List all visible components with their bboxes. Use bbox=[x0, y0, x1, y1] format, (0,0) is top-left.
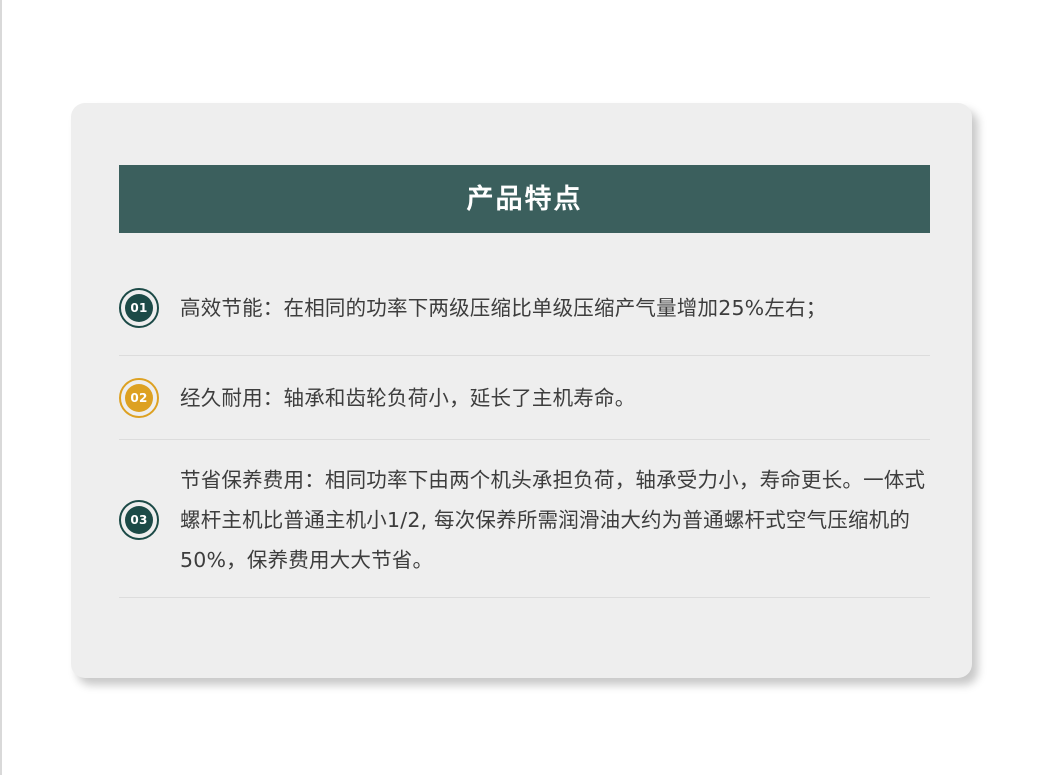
list-item: 02 经久耐用：轴承和齿轮负荷小，延长了主机寿命。 bbox=[119, 356, 930, 440]
product-features-card: 产品特点 01 高效节能：在相同的功率下两级压缩比单级压缩产气量增加25%左右；… bbox=[71, 103, 972, 678]
badge-disc: 01 bbox=[125, 294, 153, 322]
badge-number-label: 01 bbox=[130, 302, 147, 314]
feature-description: 节省保养费用：相同功率下由两个机头承担负荷，轴承受力小，寿命更长。一体式螺杆主机… bbox=[180, 460, 930, 580]
badge-disc: 03 bbox=[125, 506, 153, 534]
page-left-edge-rule bbox=[0, 0, 2, 775]
feature-list: 01 高效节能：在相同的功率下两级压缩比单级压缩产气量增加25%左右； 02 经… bbox=[119, 258, 930, 598]
feature-number-badge: 01 bbox=[119, 288, 159, 328]
page-title: 产品特点 bbox=[467, 186, 583, 213]
badge-number-label: 02 bbox=[130, 392, 147, 404]
card-title-bar: 产品特点 bbox=[119, 165, 930, 233]
feature-number-badge: 02 bbox=[119, 378, 159, 418]
badge-number-label: 03 bbox=[130, 514, 147, 526]
feature-description: 高效节能：在相同的功率下两级压缩比单级压缩产气量增加25%左右； bbox=[180, 288, 930, 328]
feature-description: 经久耐用：轴承和齿轮负荷小，延长了主机寿命。 bbox=[180, 378, 930, 418]
list-item: 03 节省保养费用：相同功率下由两个机头承担负荷，轴承受力小，寿命更长。一体式螺… bbox=[119, 440, 930, 598]
feature-number-badge: 03 bbox=[119, 500, 159, 540]
list-item: 01 高效节能：在相同的功率下两级压缩比单级压缩产气量增加25%左右； bbox=[119, 258, 930, 356]
badge-disc: 02 bbox=[125, 384, 153, 412]
